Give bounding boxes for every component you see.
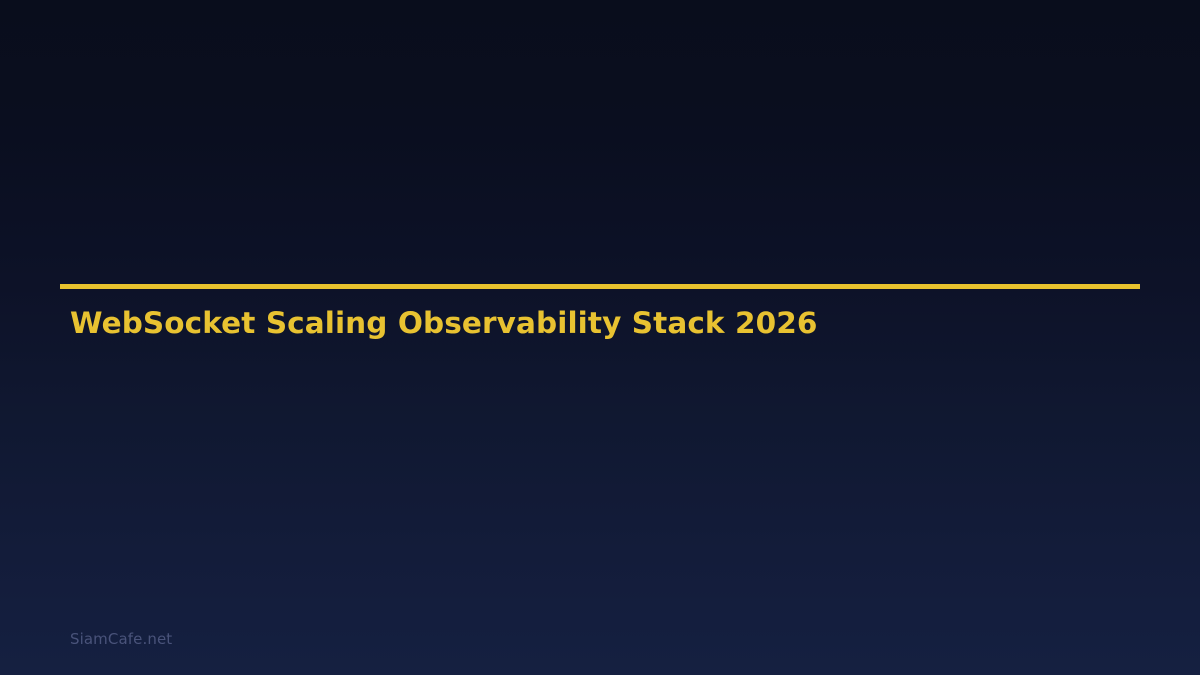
page-title: WebSocket Scaling Observability Stack 20… (70, 307, 818, 341)
accent-bar (60, 284, 1140, 289)
footer-attribution: SiamCafe.net (70, 630, 172, 650)
presentation-slide: WebSocket Scaling Observability Stack 20… (0, 0, 1200, 675)
title-block: WebSocket Scaling Observability Stack 20… (60, 284, 1140, 289)
